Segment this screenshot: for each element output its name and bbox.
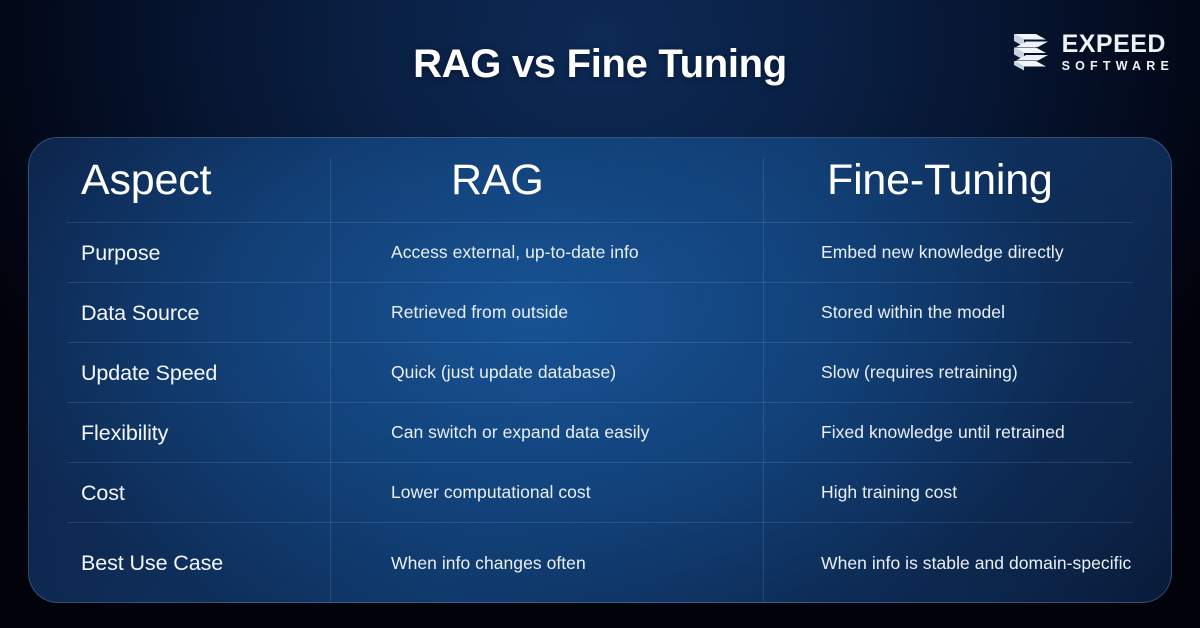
fine-tuning-value: Stored within the model <box>821 301 1005 325</box>
row-rag-cell: Lower computational cost <box>331 463 764 523</box>
aspect-label: Cost <box>81 481 125 506</box>
table-row: Update Speed Quick (just update database… <box>29 343 1171 403</box>
row-aspect-cell: Purpose <box>29 223 331 283</box>
column-header-label: RAG <box>451 156 544 205</box>
fine-tuning-value: Embed new knowledge directly <box>821 241 1064 265</box>
row-fine-tuning-cell: Slow (requires retraining) <box>764 343 1171 403</box>
rag-value: Quick (just update database) <box>391 361 616 385</box>
row-aspect-cell: Best Use Case <box>29 523 331 603</box>
row-aspect-cell: Update Speed <box>29 343 331 403</box>
fine-tuning-value: When info is stable and domain-specific <box>821 552 1131 576</box>
rag-value: Lower computational cost <box>391 481 591 505</box>
table-row: Data Source Retrieved from outside Store… <box>29 283 1171 343</box>
header-cell-aspect: Aspect <box>29 138 331 223</box>
row-aspect-cell: Flexibility <box>29 403 331 463</box>
table-row: Cost Lower computational cost High train… <box>29 463 1171 523</box>
aspect-label: Purpose <box>81 241 160 266</box>
row-rag-cell: Retrieved from outside <box>331 283 764 343</box>
row-fine-tuning-cell: High training cost <box>764 463 1171 523</box>
fine-tuning-value: High training cost <box>821 481 957 505</box>
rag-value: Can switch or expand data easily <box>391 421 649 445</box>
rag-value: Retrieved from outside <box>391 301 568 325</box>
row-rag-cell: When info changes often <box>331 523 764 603</box>
header-cell-rag: RAG <box>331 138 764 223</box>
logo-wordmark: EXPEED SOFTWARE <box>1062 32 1174 73</box>
column-header-label: Aspect <box>81 156 211 205</box>
row-fine-tuning-cell: Stored within the model <box>764 283 1171 343</box>
brand-logo: EXPEED SOFTWARE <box>1012 32 1174 73</box>
aspect-label: Update Speed <box>81 361 217 386</box>
row-fine-tuning-cell: Fixed knowledge until retrained <box>764 403 1171 463</box>
aspect-label: Flexibility <box>81 421 168 446</box>
fine-tuning-value: Slow (requires retraining) <box>821 361 1018 385</box>
row-fine-tuning-cell: When info is stable and domain-specific <box>764 523 1171 603</box>
aspect-label: Best Use Case <box>81 551 223 576</box>
infographic-page: RAG vs Fine Tuning EXPEED SOFTWARE <box>0 0 1200 628</box>
aspect-label: Data Source <box>81 301 199 326</box>
fine-tuning-value: Fixed knowledge until retrained <box>821 421 1065 445</box>
chevron-stack-icon <box>1012 32 1054 72</box>
row-fine-tuning-cell: Embed new knowledge directly <box>764 223 1171 283</box>
table-row: Purpose Access external, up-to-date info… <box>29 223 1171 283</box>
table-header-row: Aspect RAG Fine-Tuning <box>29 138 1171 223</box>
comparison-table: Aspect RAG Fine-Tuning Purpose <box>29 138 1171 602</box>
header: RAG vs Fine Tuning EXPEED SOFTWARE <box>0 0 1200 137</box>
row-rag-cell: Can switch or expand data easily <box>331 403 764 463</box>
row-rag-cell: Access external, up-to-date info <box>331 223 764 283</box>
table-row: Best Use Case When info changes often Wh… <box>29 523 1171 603</box>
row-rag-cell: Quick (just update database) <box>331 343 764 403</box>
table-row: Flexibility Can switch or expand data ea… <box>29 403 1171 463</box>
rag-value: When info changes often <box>391 552 586 576</box>
logo-word-primary: EXPEED <box>1062 32 1174 57</box>
comparison-card: Aspect RAG Fine-Tuning Purpose <box>28 137 1172 603</box>
rag-value: Access external, up-to-date info <box>391 241 639 265</box>
column-header-label: Fine-Tuning <box>827 156 1053 205</box>
row-aspect-cell: Cost <box>29 463 331 523</box>
logo-word-secondary: SOFTWARE <box>1062 60 1174 73</box>
header-cell-fine-tuning: Fine-Tuning <box>764 138 1171 223</box>
row-aspect-cell: Data Source <box>29 283 331 343</box>
